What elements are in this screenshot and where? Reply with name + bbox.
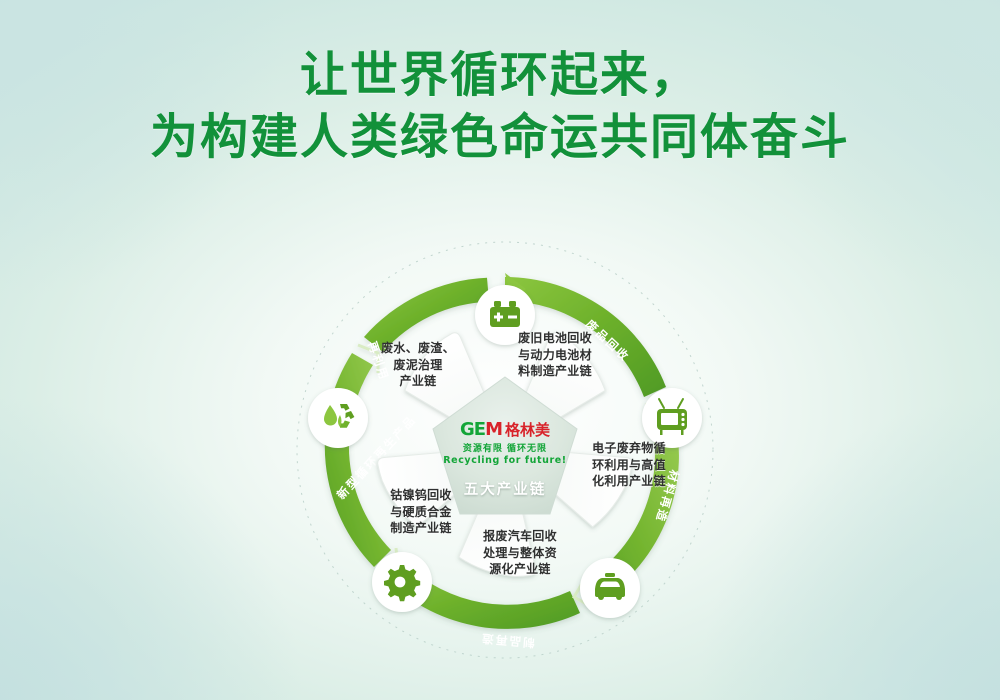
chain-label-scrap-car: 报废汽车回收 处理与整体资 源化产业链 [470,528,570,578]
logo-tagline-english: Recycling for future! [435,455,575,466]
gem-logo: GEM 格林美 资源有限 循环无限 Recycling for future! [435,421,575,466]
car-icon[interactable] [580,558,640,618]
page-title: 让世界循环起来， 为构建人类绿色命运共同体奋斗 [0,44,1000,168]
logo-mark-chinese: 格林美 [505,423,550,438]
chain-label-waste-water: 废水、废渣、 废泥治理 产业链 [370,340,466,390]
title-line-2: 为构建人类绿色命运共同体奋斗 [0,106,1000,168]
gear-icon[interactable] [372,552,432,612]
recycle-drop-icon[interactable] [308,388,368,448]
chain-label-battery: 废旧电池回收 与动力电池材 料制造产业链 [502,330,608,380]
center-subtitle: 五大产业链 [435,478,575,499]
logo-mark-latin: GEM [460,421,502,439]
title-line-1: 让世界循环起来， [0,44,1000,106]
ring-label-bottom: 制品再造 [479,631,535,650]
logo-wordmark: GEM 格林美 [435,421,575,439]
logo-slogan: 资源有限 循环无限 [435,441,575,454]
five-industry-chain-diagram: 废品回收 材料再造 制品再造 新型循环再生产品 再利用 [280,225,730,675]
poster-canvas: 让世界循环起来， 为构建人类绿色命运共同体奋斗 [0,0,1000,700]
tv-icon[interactable] [642,388,702,448]
chain-label-e-waste: 电子废弃物循 环利用与高值 化利用产业链 [580,440,678,490]
